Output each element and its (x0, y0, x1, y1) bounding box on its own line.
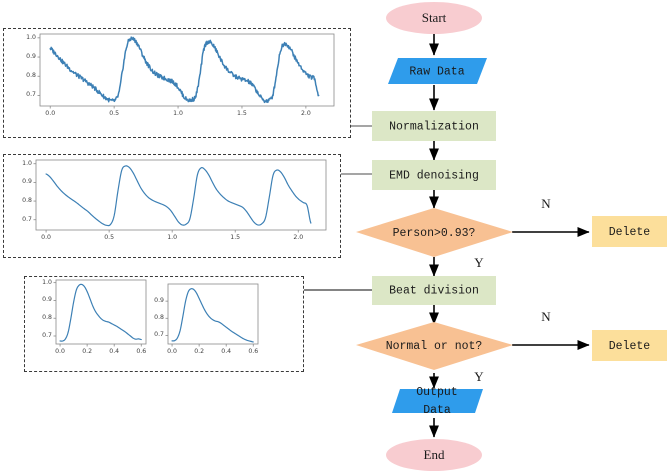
node-beat-division-label: Beat division (389, 285, 479, 298)
node-end-label: End (424, 447, 445, 462)
node-raw-data-label: Raw Data (409, 66, 464, 79)
node-normalization-label: Normalization (389, 121, 479, 134)
node-person-decision-label: Person>0.93? (393, 227, 476, 240)
edge-label-normal-yes: Y (474, 369, 484, 384)
edge-label-normal-no: N (541, 309, 551, 324)
node-normalization[interactable]: Normalization (372, 111, 496, 141)
node-person-decision[interactable]: Person>0.93? (356, 208, 513, 257)
node-delete-1-label: Delete (609, 226, 651, 239)
node-normal-decision-label: Normal or not? (386, 340, 483, 353)
node-delete-1[interactable]: Delete (592, 216, 667, 247)
node-delete-2[interactable]: Delete (592, 330, 667, 361)
panel-connectors (304, 126, 372, 290)
node-start-label: Start (422, 10, 447, 25)
node-emd-denoising[interactable]: EMD denoising (372, 160, 496, 190)
node-raw-data[interactable]: Raw Data (388, 58, 487, 84)
edge-label-person-yes: Y (474, 255, 484, 270)
node-delete-2-label: Delete (609, 340, 651, 353)
node-end[interactable]: End (386, 439, 482, 471)
node-start[interactable]: Start (386, 2, 482, 34)
diagram-canvas: 0.00.51.01.52.00.70.80.91.00.00.51.01.52… (0, 0, 670, 474)
node-output-data-label-line2: Data (423, 404, 451, 417)
node-output-data-label-line1: Output (416, 386, 457, 399)
flowchart-layer: Start Raw Data Normalization EMD denoisi… (0, 0, 670, 474)
node-emd-denoising-label: EMD denoising (389, 170, 479, 183)
node-normal-decision[interactable]: Normal or not? (356, 322, 513, 370)
edge-label-person-no: N (541, 196, 551, 211)
node-beat-division[interactable]: Beat division (372, 276, 496, 305)
node-output-data[interactable]: Output Data (392, 386, 483, 417)
